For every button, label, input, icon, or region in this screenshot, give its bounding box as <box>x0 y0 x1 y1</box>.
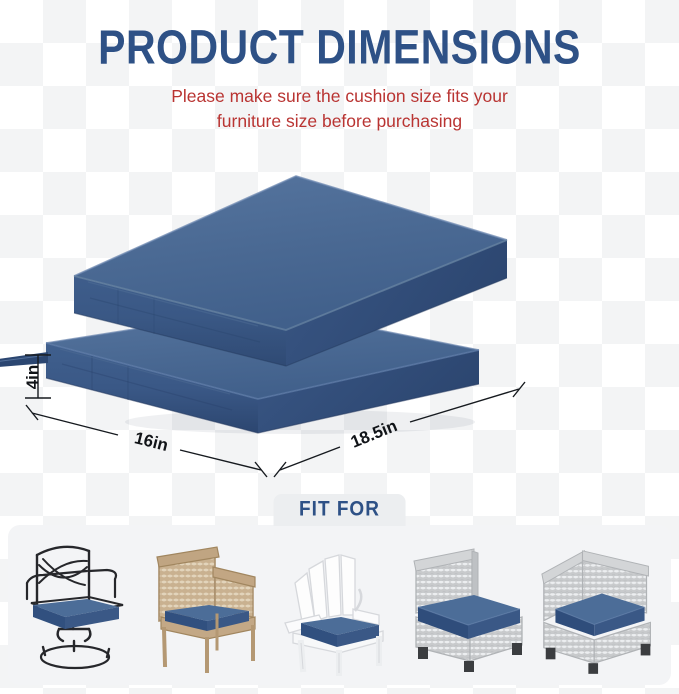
cushion <box>33 599 119 629</box>
page-title: PRODUCT DIMENSIONS <box>0 22 679 73</box>
dimension-height-label: 4in <box>23 365 42 390</box>
product-illustration: 4in 16in 18.5in <box>0 150 679 480</box>
fit-item-wicker-dining-arm-chair <box>147 535 271 677</box>
fit-item-armless-wicker-sectional-seat <box>408 535 532 677</box>
fit-for-label: FIT FOR <box>299 499 380 520</box>
fit-item-corner-wicker-sectional-seat <box>538 535 662 677</box>
header: PRODUCT DIMENSIONS Please make sure the … <box>0 0 679 135</box>
product-dimension-stage: 4in 16in 18.5in <box>0 150 679 480</box>
subtitle-line-1: Please make sure the cushion size fits y… <box>171 86 508 106</box>
dimension-width-label: 16in <box>133 428 171 455</box>
page-subtitle: Please make sure the cushion size fits y… <box>0 84 679 135</box>
subtitle-line-2: furniture size before purchasing <box>0 109 679 134</box>
fit-item-swivel-rocker-patio-chair <box>17 535 141 677</box>
fit-item-adirondack-chair <box>277 535 401 677</box>
fit-for-panel <box>8 525 671 685</box>
fit-for-tab: FIT FOR <box>273 494 406 526</box>
